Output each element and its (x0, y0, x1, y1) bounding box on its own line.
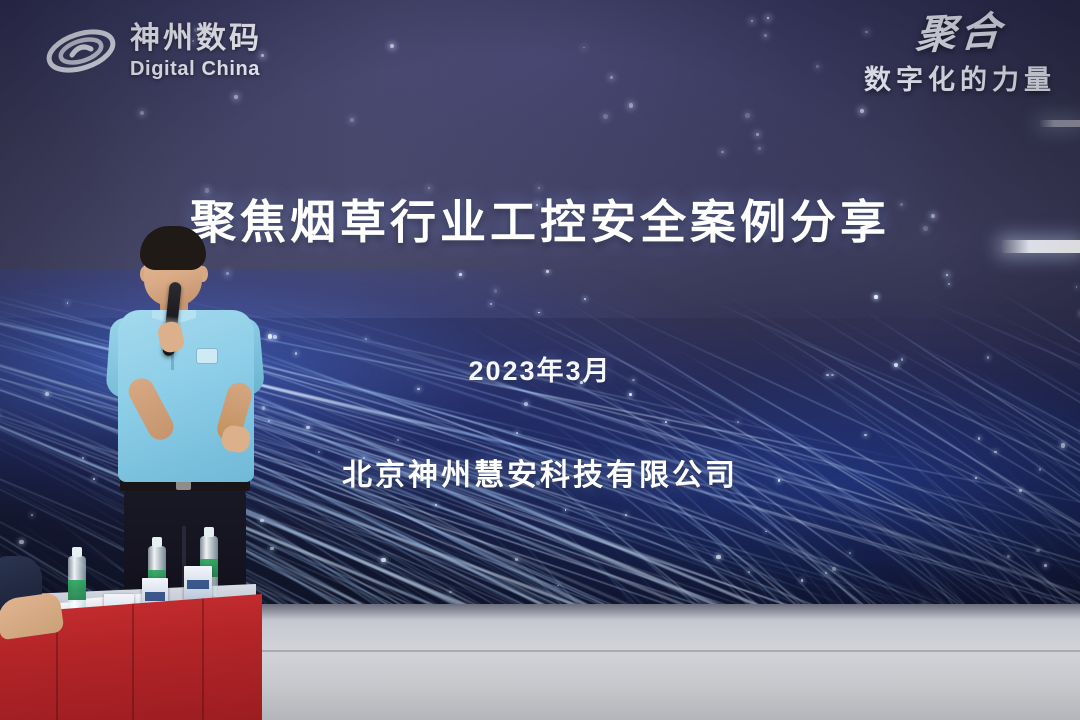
brand-text: 神州数码 Digital China (130, 24, 262, 79)
brand-lockup: 神州数码 Digital China (44, 22, 262, 80)
conference-photo: 神州数码 Digital China 聚合 数字化的力量 聚焦烟草行业工控安全案… (0, 0, 1080, 720)
campaign-calligraphy: 聚合 (862, 12, 1005, 57)
cloth-fold (132, 594, 134, 720)
name-placard (184, 566, 212, 600)
brand-name-en: Digital China (130, 59, 262, 79)
speaker-hair (140, 226, 206, 270)
campaign-subtitle: 数字化的力量 (864, 58, 1056, 97)
polo-chest-logo-icon (196, 348, 218, 364)
edge-light-bar-upper (1040, 120, 1080, 127)
campaign-lockup: 聚合 数字化的力量 (864, 16, 1056, 97)
placard-band (145, 592, 166, 601)
brand-name-cn: 神州数码 (130, 24, 262, 54)
digital-china-swirl-logo-icon (44, 22, 118, 80)
bottle-label (68, 580, 86, 599)
speaker-figure (96, 226, 286, 616)
cloth-fold (202, 594, 204, 720)
placard-band (187, 580, 209, 589)
